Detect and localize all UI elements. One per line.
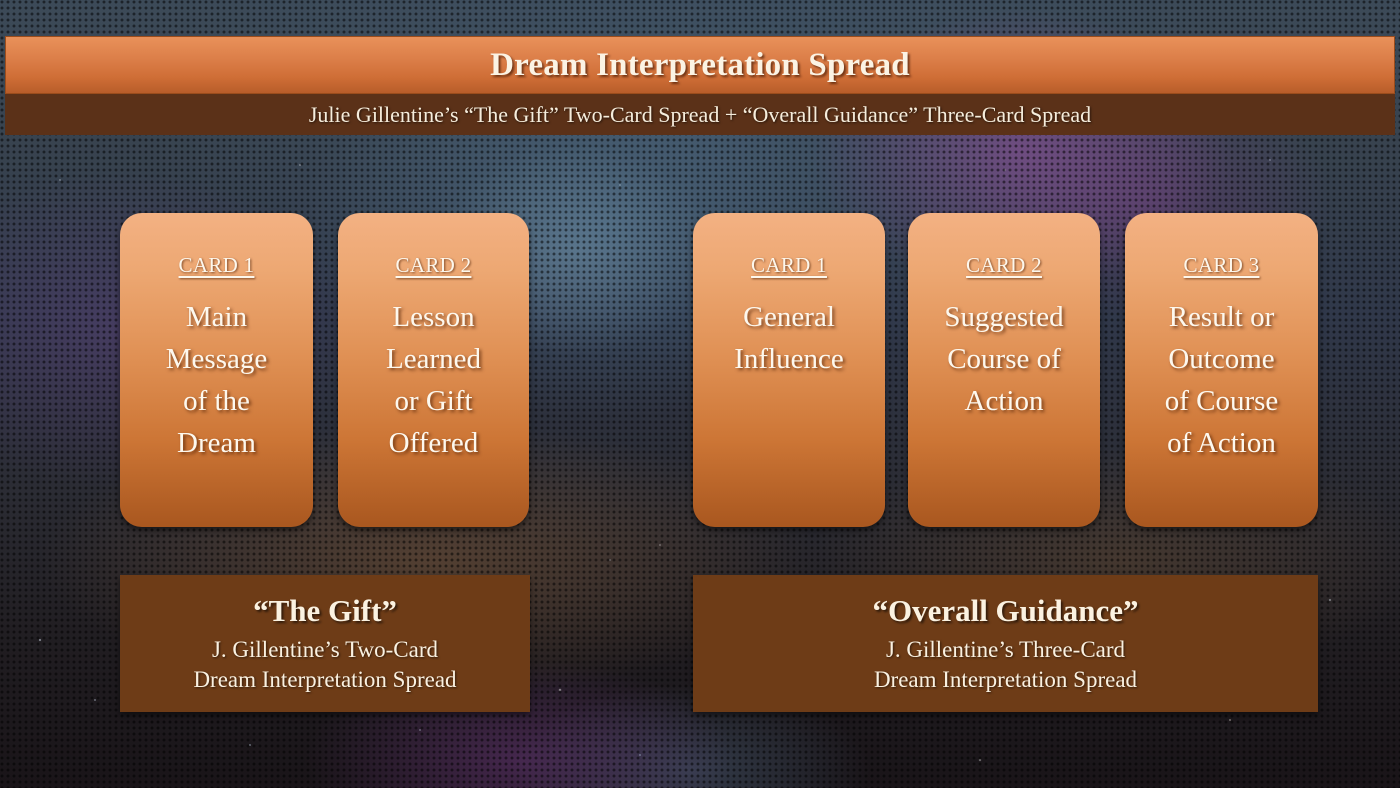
spread-card-gift-2[interactable]: CARD 2 Lesson Learned or Gift Offered xyxy=(338,213,529,527)
card-body: Lesson Learned or Gift Offered xyxy=(376,296,491,464)
caption-subtitle-line-1: J. Gillentine’s Two-Card xyxy=(212,637,438,662)
card-body: General Influence xyxy=(724,296,854,380)
card-body: Main Message of the Dream xyxy=(156,296,277,464)
caption-overall-guidance: “Overall Guidance” J. Gillentine’s Three… xyxy=(693,575,1318,712)
card-label: CARD 1 xyxy=(751,253,827,278)
card-body: Suggested Course of Action xyxy=(934,296,1073,422)
page-subtitle: Julie Gillentine’s “The Gift” Two-Card S… xyxy=(309,102,1091,128)
title-bar: Dream Interpretation Spread xyxy=(5,36,1395,94)
caption-subtitle-line-2: Dream Interpretation Spread xyxy=(874,667,1137,692)
card-label: CARD 3 xyxy=(1184,253,1260,278)
spread-card-guidance-2[interactable]: CARD 2 Suggested Course of Action xyxy=(908,213,1100,527)
card-body: Result or Outcome of Course of Action xyxy=(1155,296,1289,464)
caption-subtitle: J. Gillentine’s Three-Card Dream Interpr… xyxy=(874,635,1137,695)
page-title: Dream Interpretation Spread xyxy=(490,47,910,84)
card-label: CARD 1 xyxy=(179,253,255,278)
caption-title: “The Gift” xyxy=(253,593,397,629)
slide-canvas: Dream Interpretation Spread Julie Gillen… xyxy=(0,0,1400,788)
spread-card-guidance-3[interactable]: CARD 3 Result or Outcome of Course of Ac… xyxy=(1125,213,1318,527)
card-label: CARD 2 xyxy=(396,253,472,278)
spread-card-guidance-1[interactable]: CARD 1 General Influence xyxy=(693,213,885,527)
caption-title: “Overall Guidance” xyxy=(872,593,1138,629)
spread-card-gift-1[interactable]: CARD 1 Main Message of the Dream xyxy=(120,213,313,527)
subtitle-bar: Julie Gillentine’s “The Gift” Two-Card S… xyxy=(5,94,1395,135)
card-label: CARD 2 xyxy=(966,253,1042,278)
caption-subtitle: J. Gillentine’s Two-Card Dream Interpret… xyxy=(193,635,456,695)
caption-the-gift: “The Gift” J. Gillentine’s Two-Card Drea… xyxy=(120,575,530,712)
caption-subtitle-line-2: Dream Interpretation Spread xyxy=(193,667,456,692)
caption-subtitle-line-1: J. Gillentine’s Three-Card xyxy=(886,637,1125,662)
